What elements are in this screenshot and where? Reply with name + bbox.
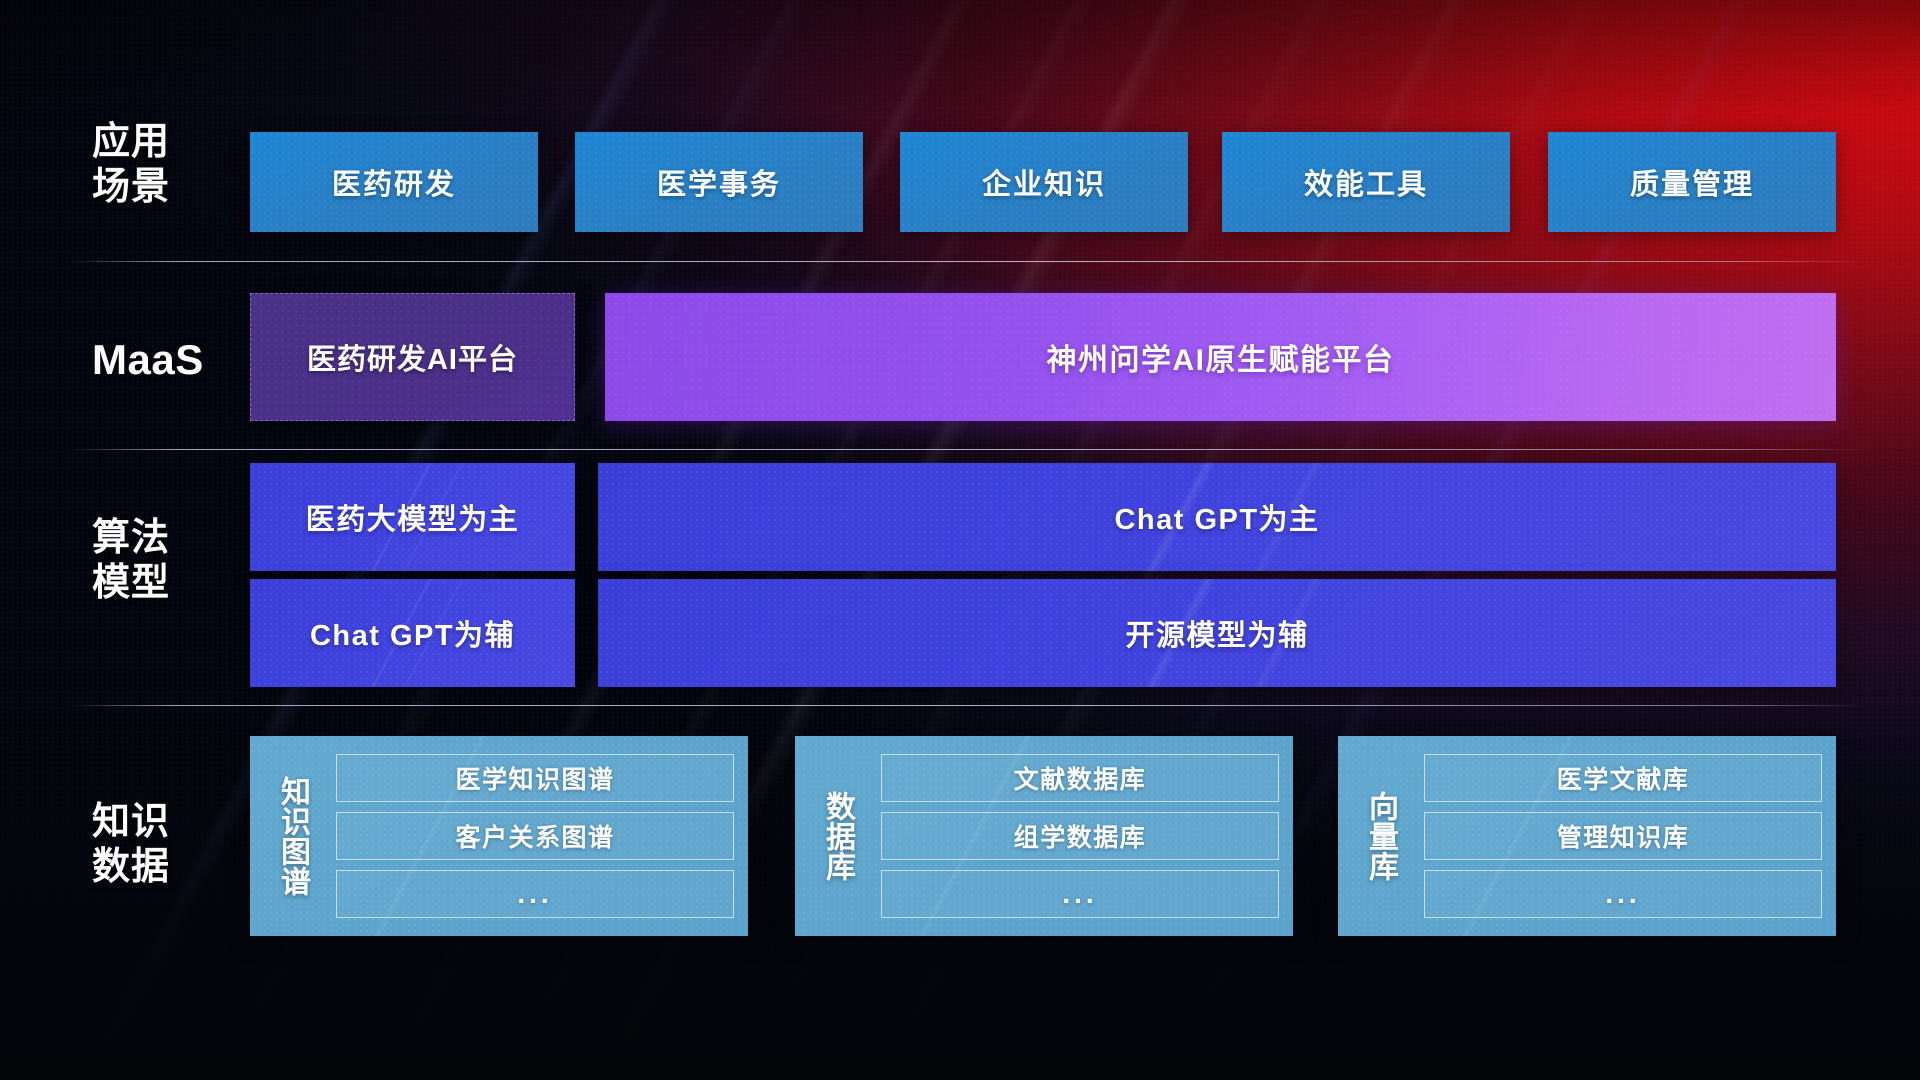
algo-box-opensource-secondary[interactable]: 开源模型为辅 [598,579,1836,687]
knowledge-panel-items: 文献数据库 组学数据库 ... [869,746,1279,926]
app-box-label: 医药研发 [332,161,456,203]
algo-box-pharma-llm-primary[interactable]: 医药大模型为主 [250,463,575,571]
row-label-knowledge-line2: 数据 [92,845,242,890]
app-box-label: 医学事务 [657,161,781,203]
app-box-quality-management[interactable]: 质量管理 [1548,132,1836,232]
app-box-pharma-rd[interactable]: 医药研发 [250,132,538,232]
maas-box-pharma-ai-platform[interactable]: 医药研发AI平台 [250,293,575,421]
algo-box-chatgpt-secondary[interactable]: Chat GPT为辅 [250,579,575,687]
architecture-diagram: 应用 场景 医药研发 医学事务 企业知识 效能工具 质量管理 MaaS 医药研发… [0,0,1920,1080]
app-box-medical-affairs[interactable]: 医学事务 [575,132,863,232]
app-box-label: 企业知识 [982,161,1106,203]
app-box-label: 效能工具 [1304,161,1428,203]
knowledge-item-more[interactable]: ... [881,870,1279,918]
knowledge-panel-title: 数据库 [805,746,869,926]
app-box-label: 质量管理 [1630,161,1754,203]
row-label-algorithm-line2: 模型 [92,561,242,606]
knowledge-panel-knowledge-graph[interactable]: 知识图谱 医学知识图谱 客户关系图谱 ... [250,736,748,936]
maas-box-label: 医药研发AI平台 [307,336,518,378]
row-label-maas-text: MaaS [92,335,242,385]
algo-box-label: Chat GPT为辅 [310,612,515,654]
row-label-maas: MaaS [92,335,242,385]
knowledge-item-more[interactable]: ... [1424,870,1822,918]
knowledge-panel-items: 医学文献库 管理知识库 ... [1412,746,1822,926]
divider-algorithm-knowledge [70,705,1870,706]
row-label-algorithm-line1: 算法 [92,516,242,561]
knowledge-panel-title: 向量库 [1348,746,1412,926]
algo-box-label: Chat GPT为主 [1114,496,1319,538]
maas-box-label: 神州问学AI原生赋能平台 [1047,335,1395,379]
knowledge-panel-vector-store[interactable]: 向量库 医学文献库 管理知识库 ... [1338,736,1836,936]
knowledge-panel-database[interactable]: 数据库 文献数据库 组学数据库 ... [795,736,1293,936]
maas-box-shenzhou-wenxue-platform[interactable]: 神州问学AI原生赋能平台 [605,293,1836,421]
row-label-knowledge-line1: 知识 [92,800,242,845]
row-label-knowledge: 知识 数据 [92,800,242,890]
divider-maas-algorithm [70,449,1870,450]
knowledge-item-literature-database[interactable]: 文献数据库 [881,754,1279,802]
app-box-enterprise-knowledge[interactable]: 企业知识 [900,132,1188,232]
slide-canvas: 应用 场景 医药研发 医学事务 企业知识 效能工具 质量管理 MaaS 医药研发… [0,0,1920,1080]
knowledge-item-medical-knowledge-graph[interactable]: 医学知识图谱 [336,754,734,802]
row-label-application: 应用 场景 [92,120,242,210]
knowledge-item-management-knowledge-store[interactable]: 管理知识库 [1424,812,1822,860]
app-box-efficiency-tools[interactable]: 效能工具 [1222,132,1510,232]
knowledge-item-medical-literature-store[interactable]: 医学文献库 [1424,754,1822,802]
knowledge-panel-items: 医学知识图谱 客户关系图谱 ... [324,746,734,926]
knowledge-item-more[interactable]: ... [336,870,734,918]
row-label-algorithm: 算法 模型 [92,516,242,606]
knowledge-item-omics-database[interactable]: 组学数据库 [881,812,1279,860]
algo-box-label: 开源模型为辅 [1125,612,1308,654]
knowledge-item-customer-relation-graph[interactable]: 客户关系图谱 [336,812,734,860]
divider-application-maas [70,261,1870,262]
row-label-application-line1: 应用 [92,120,242,165]
row-label-application-line2: 场景 [92,165,242,210]
algo-box-label: 医药大模型为主 [306,496,520,538]
knowledge-panel-title: 知识图谱 [260,746,324,926]
algo-box-chatgpt-primary[interactable]: Chat GPT为主 [598,463,1836,571]
